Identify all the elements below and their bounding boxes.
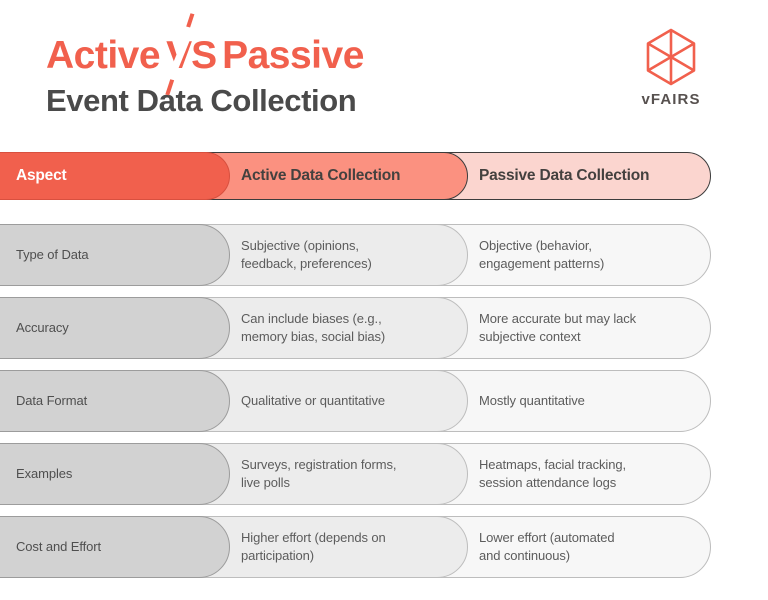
title-word-active: Active: [46, 36, 160, 76]
cell-text-passive: Mostly quantitative: [479, 392, 585, 410]
cell-aspect: Type of Data: [0, 224, 230, 286]
cell-aspect: Data Format: [0, 370, 230, 432]
cell-aspect: Accuracy: [0, 297, 230, 359]
cell-aspect: Examples: [0, 443, 230, 505]
title-line-primary: Active VS Passive: [46, 36, 466, 76]
table-row: Lower effort (automated and continuous) …: [0, 516, 768, 578]
hexagon-cube-icon: [645, 28, 697, 86]
table-row: More accurate but may lack subjective co…: [0, 297, 768, 359]
cell-text-active: Can include biases (e.g., memory bias, s…: [241, 310, 385, 347]
cell-text-active: Higher effort (depends on participation): [241, 529, 386, 566]
table-header-row: Passive Data Collection Active Data Coll…: [0, 152, 768, 200]
title-line-secondary: Event Data Collection: [46, 83, 466, 119]
title-block: Active VS Passive Event Data Collection: [46, 36, 466, 119]
header-cell-aspect: Aspect: [0, 152, 230, 200]
table-row: Heatmaps, facial tracking, session atten…: [0, 443, 768, 505]
cell-text-aspect: Data Format: [16, 392, 87, 410]
table-row: Objective (behavior, engagement patterns…: [0, 224, 768, 286]
cell-aspect: Cost and Effort: [0, 516, 230, 578]
cell-text-aspect: Cost and Effort: [16, 538, 101, 556]
header-label-aspect: Aspect: [16, 167, 66, 185]
versus-badge: VS: [161, 36, 221, 76]
header-label-active: Active Data Collection: [241, 167, 400, 185]
brand-logo: vFAIRS: [628, 28, 714, 108]
cell-text-passive: Objective (behavior, engagement patterns…: [479, 237, 604, 274]
versus-label: VS: [166, 34, 216, 77]
title-word-passive: Passive: [222, 36, 364, 76]
cell-text-active: Subjective (opinions, feedback, preferen…: [241, 237, 372, 274]
header-label-passive: Passive Data Collection: [479, 167, 649, 185]
cell-text-aspect: Accuracy: [16, 319, 69, 337]
cell-text-passive: Lower effort (automated and continuous): [479, 529, 614, 566]
cell-text-aspect: Examples: [16, 465, 72, 483]
cell-text-active: Qualitative or quantitative: [241, 392, 385, 410]
cell-text-active: Surveys, registration forms, live polls: [241, 456, 396, 493]
brand-wordmark: vFAIRS: [628, 91, 714, 108]
cell-text-aspect: Type of Data: [16, 246, 89, 264]
cell-text-passive: More accurate but may lack subjective co…: [479, 310, 636, 347]
comparison-table: Passive Data Collection Active Data Coll…: [0, 152, 768, 589]
cell-text-passive: Heatmaps, facial tracking, session atten…: [479, 456, 626, 493]
table-row: Mostly quantitative Qualitative or quant…: [0, 370, 768, 432]
infographic-page: Active VS Passive Event Data Collection …: [0, 0, 768, 600]
